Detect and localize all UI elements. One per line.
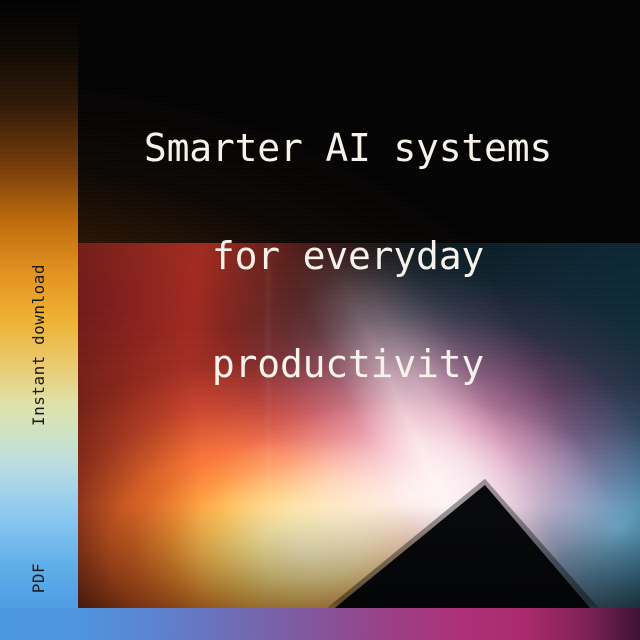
headline-line-1: Smarter AI systems <box>78 130 618 166</box>
headline-line-3: productivity <box>78 346 618 382</box>
headline-line-2: for everyday <box>78 238 618 274</box>
bottom-color-band <box>0 608 640 640</box>
instant-download-label: Instant download <box>31 264 47 426</box>
left-gradient-rail: Instant download PDF <box>0 0 78 640</box>
poster-headline: Smarter AI systems for everyday producti… <box>78 58 618 454</box>
poster-canvas: Instant download PDF Smarter AI systems … <box>0 0 640 640</box>
pdf-format-label: PDF <box>31 563 47 593</box>
